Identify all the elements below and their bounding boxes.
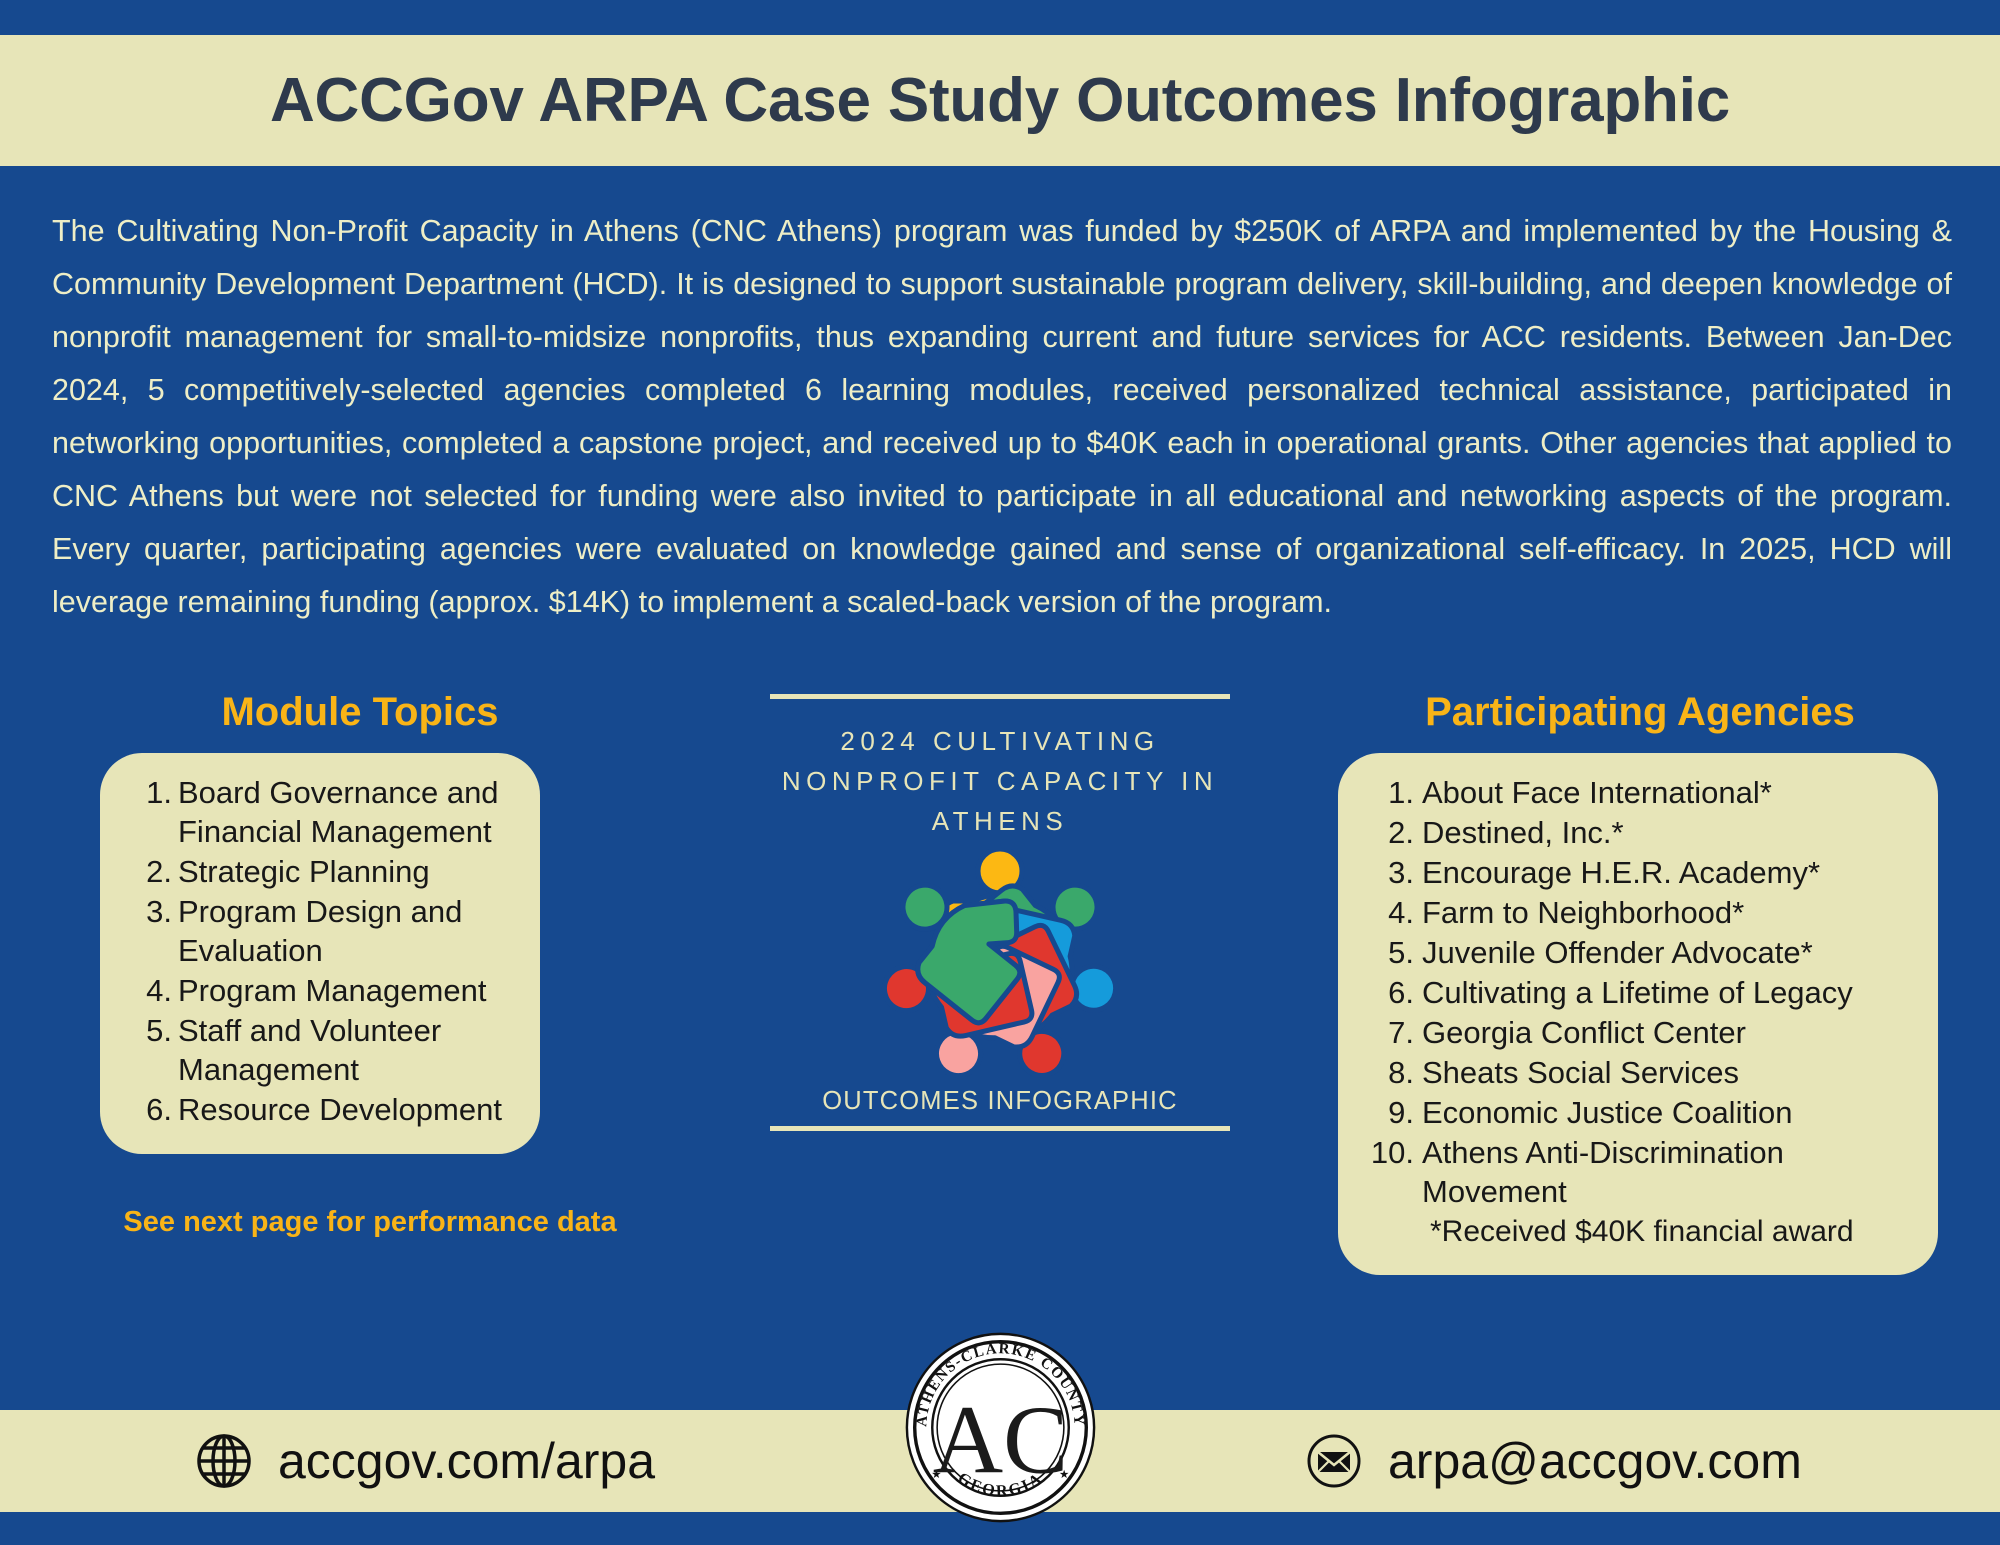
- logo-top-text: 2024 CULTIVATING NONPROFIT CAPACITY IN A…: [740, 721, 1260, 841]
- program-logo-column: 2024 CULTIVATING NONPROFIT CAPACITY IN A…: [700, 690, 1300, 1131]
- agencies-footnote: *Received $40K financial award: [1364, 1213, 1912, 1251]
- people-circle-icon: [870, 849, 1130, 1079]
- list-item: Program Design and Evaluation: [126, 892, 514, 970]
- page-title: ACCGov ARPA Case Study Outcomes Infograp…: [270, 65, 1730, 136]
- title-band: ACCGov ARPA Case Study Outcomes Infograp…: [0, 35, 2000, 166]
- envelope-icon: [1306, 1433, 1362, 1489]
- logo-bottom-rule: [770, 1126, 1230, 1131]
- participating-agencies-card: About Face International* Destined, Inc.…: [1338, 753, 1938, 1275]
- see-next-page-note: See next page for performance data: [80, 1202, 660, 1242]
- email-link[interactable]: arpa@accgov.com: [1306, 1432, 1802, 1490]
- list-item: Encourage H.E.R. Academy*: [1364, 853, 1912, 892]
- columns-region: Module Topics Board Governance and Finan…: [0, 690, 2000, 1370]
- list-item: Sheats Social Services: [1364, 1053, 1912, 1092]
- module-topics-card: Board Governance and Financial Managemen…: [100, 753, 540, 1154]
- list-item: Destined, Inc.*: [1364, 813, 1912, 852]
- email-text: arpa@accgov.com: [1388, 1432, 1802, 1490]
- list-item: Board Governance and Financial Managemen…: [126, 773, 514, 851]
- logo-top-rule: [770, 694, 1230, 699]
- participating-agencies-list: About Face International* Destined, Inc.…: [1364, 773, 1912, 1211]
- module-topics-heading: Module Topics: [60, 690, 660, 735]
- list-item: Staff and Volunteer Management: [126, 1011, 514, 1089]
- module-topics-column: Module Topics Board Governance and Finan…: [60, 690, 660, 1242]
- module-topics-list: Board Governance and Financial Managemen…: [126, 773, 514, 1129]
- website-text: accgov.com/arpa: [278, 1432, 655, 1490]
- participating-agencies-column: Participating Agencies About Face Intern…: [1330, 690, 1950, 1275]
- list-item: Juvenile Offender Advocate*: [1364, 933, 1912, 972]
- list-item: Resource Development: [126, 1090, 514, 1129]
- program-logo-block: 2024 CULTIVATING NONPROFIT CAPACITY IN A…: [700, 690, 1300, 1131]
- list-item: Economic Justice Coalition: [1364, 1093, 1912, 1132]
- logo-bottom-text: OUTCOMES INFOGRAPHIC: [700, 1087, 1300, 1116]
- list-item: Strategic Planning: [126, 852, 514, 891]
- list-item: About Face International*: [1364, 773, 1912, 812]
- list-item: Georgia Conflict Center: [1364, 1013, 1912, 1052]
- list-item: Athens Anti-Discrimination Movement: [1364, 1133, 1912, 1211]
- participating-agencies-heading: Participating Agencies: [1330, 690, 1950, 735]
- seal-monogram: AC: [933, 1386, 1068, 1494]
- list-item: Cultivating a Lifetime of Legacy: [1364, 973, 1912, 1012]
- intro-paragraph: The Cultivating Non-Profit Capacity in A…: [52, 205, 1952, 629]
- list-item: Program Management: [126, 971, 514, 1010]
- list-item: Farm to Neighborhood*: [1364, 893, 1912, 932]
- website-link[interactable]: accgov.com/arpa: [196, 1432, 655, 1490]
- infographic-page: ACCGov ARPA Case Study Outcomes Infograp…: [0, 0, 2000, 1545]
- acc-gov-seal-icon: ATHENS-CLARKE COUNTY GEORGIA ★ ★ AC: [903, 1330, 1098, 1525]
- globe-icon: [196, 1433, 252, 1489]
